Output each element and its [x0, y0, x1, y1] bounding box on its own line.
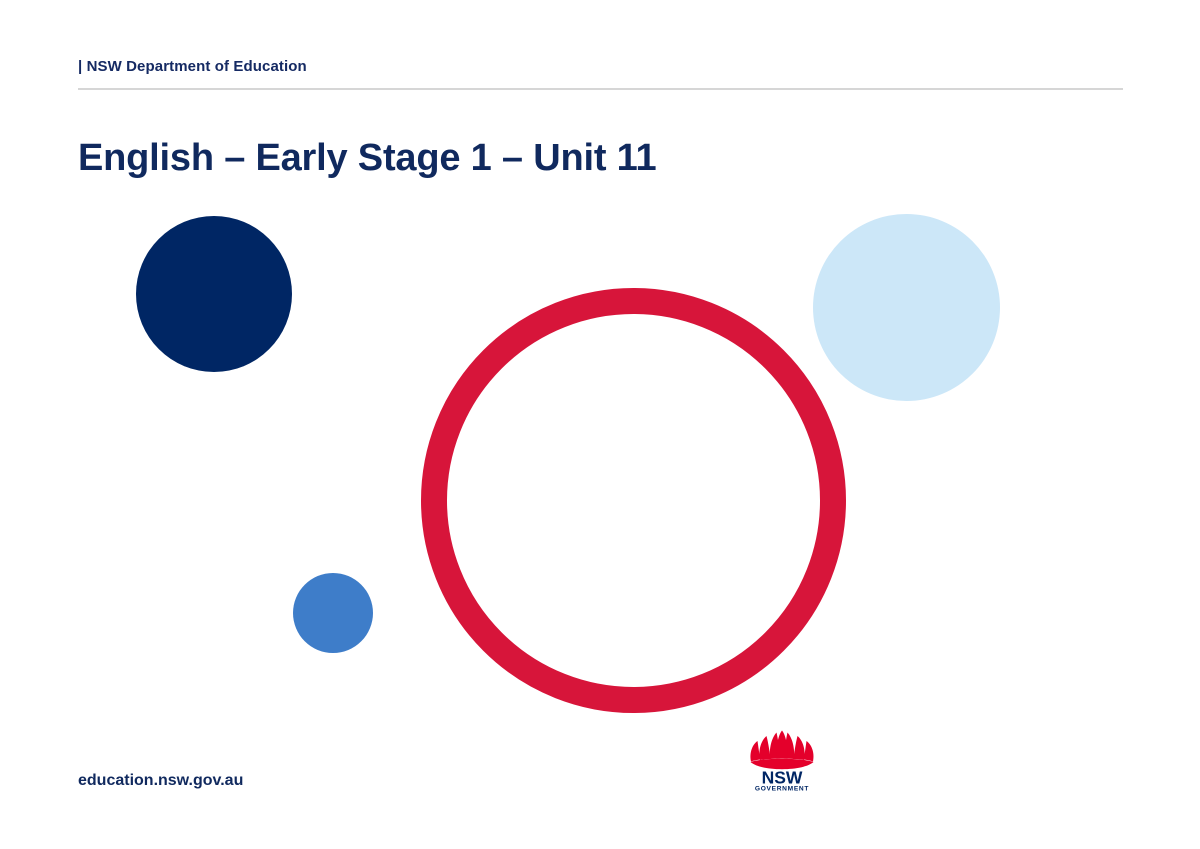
department-eyebrow: | NSW Department of Education [78, 58, 307, 75]
navy-circle-icon [136, 216, 292, 372]
nsw-government-logo: NSW GOVERNMENT [748, 730, 816, 792]
nsw-wordmark: NSW [762, 768, 803, 788]
red-ring-icon [421, 288, 846, 713]
government-wordmark: GOVERNMENT [755, 786, 809, 793]
pale-blue-circle-icon [813, 214, 1000, 401]
slide-canvas: | NSW Department of Education English – … [0, 0, 1200, 849]
header-divider [78, 88, 1123, 90]
blue-circle-icon [293, 573, 373, 653]
waratah-icon [750, 731, 813, 770]
footer-website-url: education.nsw.gov.au [78, 772, 243, 790]
page-title: English – Early Stage 1 – Unit 11 [78, 137, 656, 180]
